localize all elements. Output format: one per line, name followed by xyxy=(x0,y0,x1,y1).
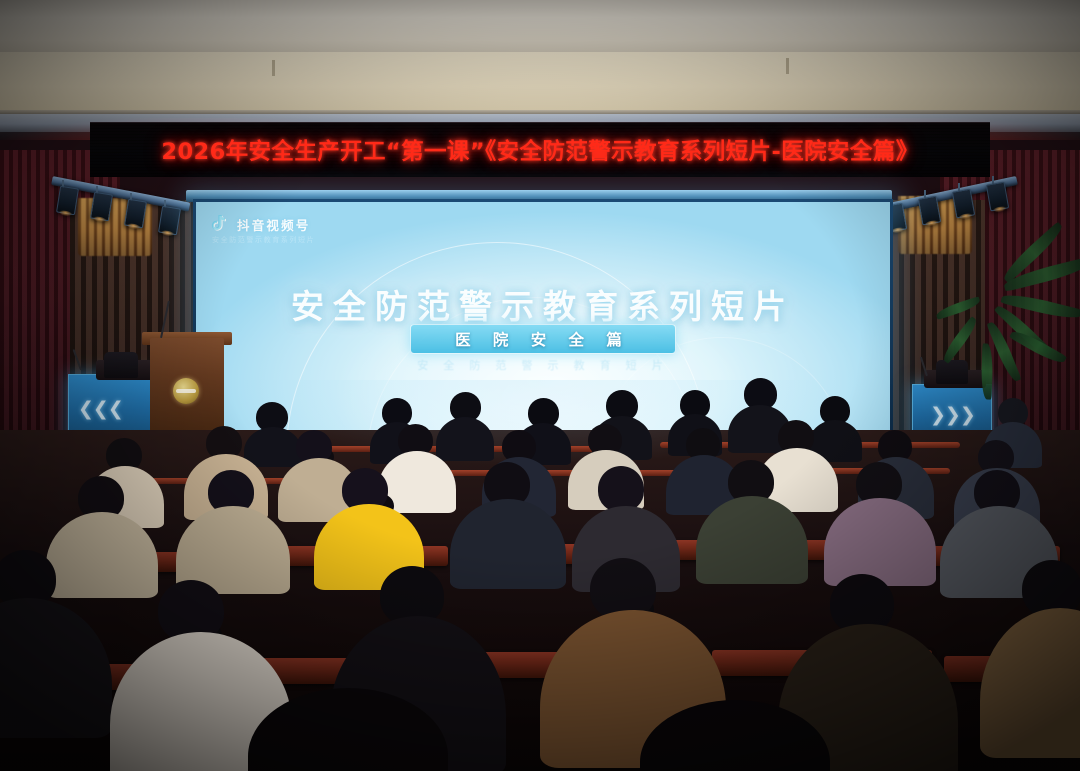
douyin-music-note-icon xyxy=(210,214,230,234)
led-banner: 2026年安全生产开工“第一课”《安全防范警示教育系列短片-医院安全篇》 xyxy=(90,122,990,177)
ceiling-fixture-nub xyxy=(272,60,275,76)
led-banner-text: 2026年安全生产开工“第一课”《安全防范警示教育系列短片-医院安全篇》 xyxy=(161,134,918,166)
screen-caption: 安 全 防 范 警 示 教 育 短 片 xyxy=(196,357,890,373)
chevron-left-icon: ❮❮❮ xyxy=(78,398,123,421)
ceiling-fixture-nub xyxy=(786,58,789,74)
person-head xyxy=(598,466,644,512)
screen-subtitle-badge: 医 院 安 全 篇 xyxy=(410,324,676,354)
screen-logo-text: 抖音视频号 xyxy=(237,215,311,234)
palm-frond xyxy=(981,343,994,399)
palm-frond xyxy=(1009,327,1067,367)
ceiling-slab xyxy=(0,0,1080,58)
screen-main-title: 安全防范警示教育系列短片 xyxy=(196,280,890,328)
conference-hall-photo: 2026年安全生产开工“第一课”《安全防范警示教育系列短片-医院安全篇》 xyxy=(0,0,1080,771)
stage-chair-left xyxy=(104,352,138,378)
podium-emblem-icon xyxy=(173,378,199,404)
screen-logo-subtext: 安全防范警示教育系列短片 xyxy=(212,235,315,245)
screen-logo: 抖音视频号 xyxy=(210,214,311,234)
ceiling-upper-wall xyxy=(0,52,1080,114)
screen-subtitle-wrap: 医 院 安 全 篇 xyxy=(196,324,890,354)
